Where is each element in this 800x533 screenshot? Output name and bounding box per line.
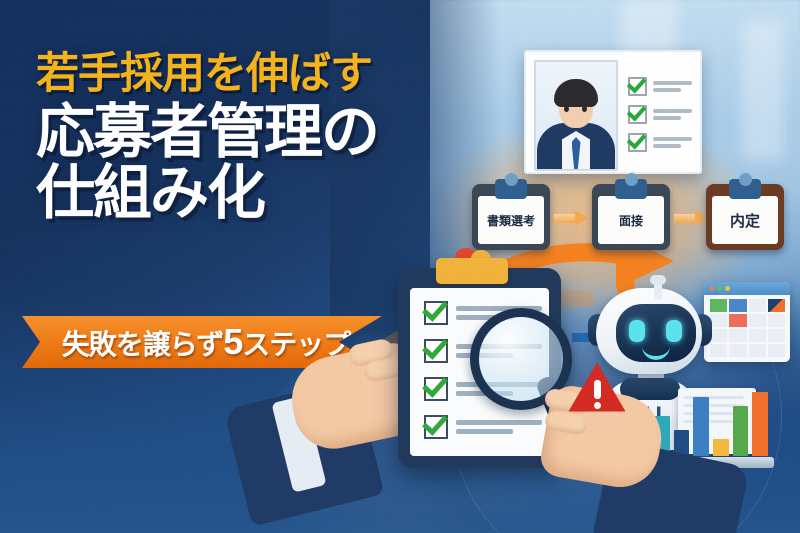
resume-card — [524, 50, 702, 174]
arrow-head — [575, 210, 588, 226]
grid-cell — [729, 344, 746, 357]
robot-eye-left — [629, 320, 645, 342]
window-titlebar — [704, 282, 790, 295]
headline-line-gold: 若手採用を伸ばす — [36, 52, 436, 97]
clipboard-clip-icon — [729, 179, 761, 199]
headline-line-sub: 仕組み化 — [36, 164, 436, 223]
applicant-photo — [534, 60, 618, 171]
robot-antenna-icon — [654, 282, 662, 300]
resume-text-lines — [653, 109, 692, 120]
clipboard-check-row — [424, 416, 542, 438]
grid-cell — [768, 299, 785, 312]
arrow-shaft — [674, 214, 696, 223]
text-line — [456, 420, 542, 425]
text-line — [456, 429, 513, 434]
grid-cell — [749, 299, 766, 312]
grid-cell — [749, 314, 766, 327]
grid-cell — [749, 329, 766, 342]
resume-text-lines — [653, 137, 692, 148]
clipboard-paper: 面接 — [598, 196, 664, 244]
ribbon-prefix: 失敗を譲らず — [62, 329, 223, 360]
resume-check-row — [628, 133, 692, 152]
main-clipboard-clip-icon — [436, 258, 508, 284]
process-step-3: 内定 — [706, 184, 784, 250]
portrait-eye-left — [564, 106, 569, 112]
clipboard-paper: 書類選考 — [478, 196, 544, 244]
robot-face-screen — [616, 304, 696, 362]
flow-arrow-1-icon — [554, 210, 588, 226]
chart-bar — [733, 406, 749, 456]
text-line — [653, 88, 681, 92]
chart-bars — [648, 392, 774, 456]
spreadsheet-window — [704, 282, 790, 362]
process-step-1: 書類選考 — [472, 184, 550, 250]
text-line — [653, 116, 681, 120]
grid-cell — [768, 329, 785, 342]
check-icon — [424, 301, 448, 325]
window-dot-yellow — [725, 286, 730, 291]
resume-checklist — [628, 60, 692, 164]
chart-bar — [713, 439, 729, 456]
grid-cell — [768, 314, 785, 327]
check-icon — [628, 77, 647, 96]
check-icon — [424, 339, 448, 363]
check-icon — [628, 133, 647, 152]
grid-cell — [729, 329, 746, 342]
portrait-hair — [554, 79, 598, 107]
poster-canvas: 若手採用を伸ばす 応募者管理の 仕組み化 失敗を譲らず5ステップ — [0, 0, 800, 533]
robot-eye-right — [666, 320, 682, 342]
text-line — [653, 137, 692, 141]
check-icon — [424, 377, 448, 401]
robot-smile-icon — [642, 344, 670, 360]
clipboard-clip-icon — [495, 179, 527, 199]
arrow-shaft — [554, 214, 576, 223]
chart-bar — [693, 397, 709, 456]
headline-line-main: 応募者管理の — [36, 103, 436, 162]
grid-cell — [729, 314, 746, 327]
text-line — [653, 81, 692, 85]
process-step-label: 面接 — [619, 212, 643, 229]
headline-block: 若手採用を伸ばす 応募者管理の 仕組み化 — [36, 52, 436, 223]
window-dot-green — [717, 286, 722, 291]
chart-bar — [752, 392, 768, 456]
text-line — [653, 109, 692, 113]
resume-check-row — [628, 105, 692, 124]
ribbon-text: 失敗を譲らず5ステップ — [54, 321, 351, 363]
process-step-label: 書類選考 — [487, 212, 535, 229]
process-step-2: 面接 — [592, 184, 670, 250]
resume-text-lines — [653, 81, 692, 92]
check-icon — [628, 105, 647, 124]
flow-arrow-2-icon — [674, 210, 708, 226]
warning-alert-icon — [566, 360, 628, 416]
exclamation-dot — [594, 402, 601, 409]
grid-cell — [768, 344, 785, 357]
process-step-label: 内定 — [730, 210, 760, 231]
exclamation-bar — [594, 380, 601, 399]
resume-check-row — [628, 77, 692, 96]
clipboard-clip-icon — [615, 179, 647, 199]
grid-cell — [749, 344, 766, 357]
spreadsheet-grid — [710, 299, 785, 357]
grid-cell — [729, 299, 746, 312]
ribbon-number: 5 — [223, 321, 242, 362]
text-lines — [456, 420, 542, 434]
portrait-eye-right — [582, 106, 587, 112]
check-icon — [424, 415, 448, 439]
clipboard-paper: 内定 — [712, 196, 778, 244]
text-line — [653, 144, 681, 148]
